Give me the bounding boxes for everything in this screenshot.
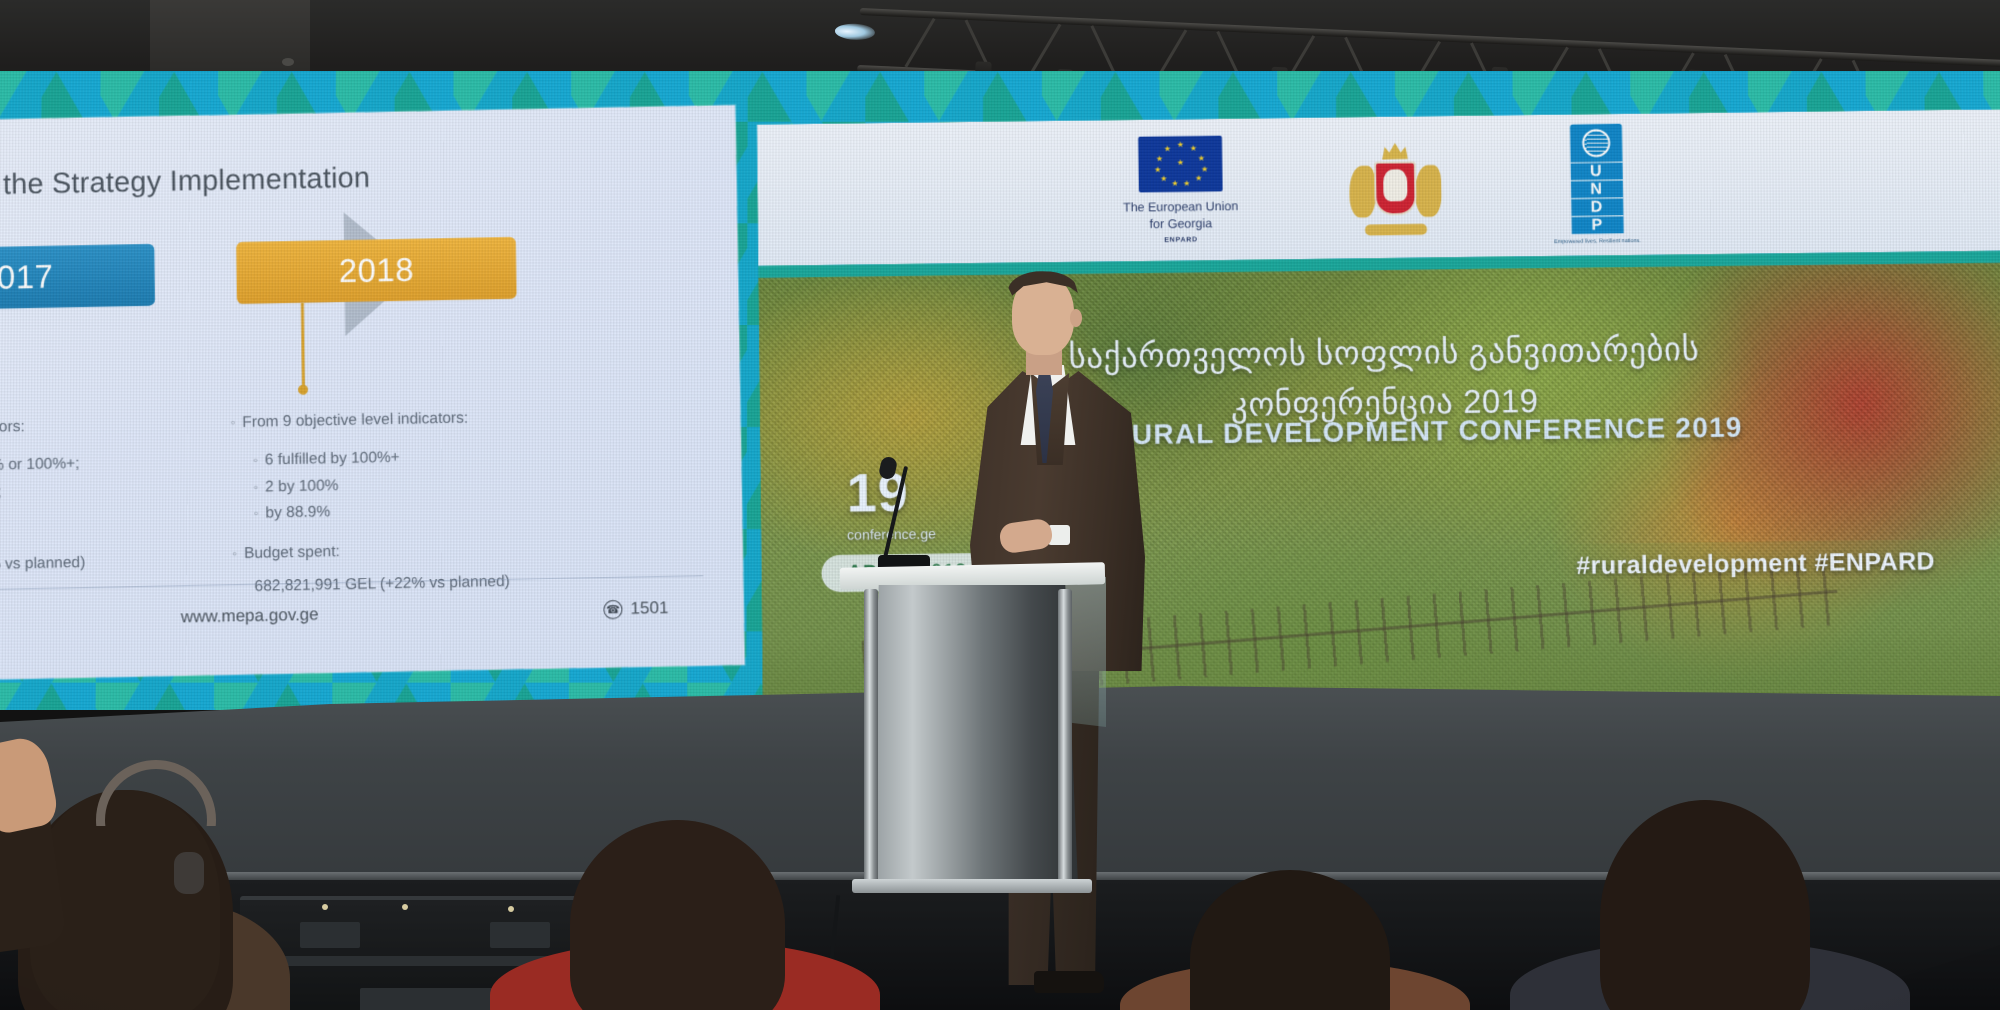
left-column-2017: r level indicators: d by 100% or 100%+; … (0, 410, 228, 580)
eu-flag-icon: ★ ★ ★ ★ ★ ★ ★ ★ ★ ★ ★ ★ (1138, 136, 1223, 193)
column-items: d by 100% or 100%+; d partially; lled. (0, 449, 228, 534)
column-heading: r level indicators: (0, 410, 227, 443)
undp-logo: U N D P Empowered lives. Resilient natio… (1552, 123, 1641, 246)
column-heading: From 9 objective level indicators: (230, 404, 560, 437)
leader-dot-2018 (298, 385, 308, 395)
budget-heading: Budget spent: (232, 535, 563, 568)
undp-caption: Empowered lives. Resilient nations. (1554, 237, 1641, 246)
hashtags: #ruraldevelopment #ENPARD (1576, 547, 1935, 580)
year-tag-2017: 2017 (0, 244, 155, 311)
leader-line-2018 (301, 303, 305, 387)
budget-value-2017: EL (+38.3% vs planned) (0, 548, 228, 580)
ceiling-light-dot (282, 58, 294, 66)
eu-logo-enpard: ENPARD (1123, 236, 1238, 244)
eu-flag-logo: ★ ★ ★ ★ ★ ★ ★ ★ ★ ★ ★ ★ (1122, 136, 1239, 245)
column-items: 6 fulfilled by 100%+ 2 by 100% by 88.9% (253, 442, 562, 527)
left-presentation-slide: ults of the Strategy Implementation 2017… (0, 105, 745, 680)
desk-slot (300, 922, 360, 948)
right-column-2018: From 9 objective level indicators: 6 ful… (230, 404, 563, 601)
footer-phone: ☎ 1501 (603, 598, 668, 619)
desk-slot (490, 922, 550, 948)
desk-indicator-light (402, 904, 408, 910)
speaker-ear (1070, 309, 1082, 327)
audience-raised-hand (0, 734, 61, 837)
lion-supporter-left-icon (1349, 166, 1376, 218)
undp-letters: U N D P (1570, 161, 1623, 233)
motto-ribbon-icon (1365, 224, 1427, 236)
eu-logo-line1: The European Union (1123, 198, 1238, 216)
undp-letter-u: U (1570, 162, 1622, 180)
slide-logo-header: ★ ★ ★ ★ ★ ★ ★ ★ ★ ★ ★ ★ (757, 109, 2000, 266)
phone-number: 1501 (630, 598, 668, 619)
undp-globe-panel (1570, 124, 1623, 162)
slide-title: ults of the Strategy Implementation (0, 162, 370, 204)
audience-member-right (1600, 800, 1810, 1010)
eu-logo-line2: for Georgia (1123, 215, 1238, 233)
headphone-earcup-icon (174, 852, 204, 894)
lion-supporter-right-icon (1415, 165, 1442, 217)
undp-letter-d: D (1571, 197, 1623, 216)
georgia-coat-of-arms-logo (1347, 135, 1444, 240)
audience-foreground (0, 710, 2000, 1010)
year-tag-2018: 2018 (236, 237, 517, 304)
truss-brace (1030, 24, 1061, 74)
audience-member-center (1190, 870, 1390, 1010)
undp-letter-p: P (1571, 215, 1623, 234)
conference-stage-scene: ults of the Strategy Implementation 2017… (0, 0, 2000, 1010)
footer-website: www.mepa.gov.ge (181, 605, 319, 628)
globe-icon (1582, 129, 1610, 157)
desk-indicator-light (508, 906, 514, 912)
truss-brace (904, 18, 935, 68)
saint-george-rider-icon (1383, 169, 1407, 201)
crown-icon (1382, 141, 1408, 159)
undp-letter-n: N (1571, 179, 1623, 198)
desk-indicator-light (322, 904, 328, 910)
phone-icon: ☎ (603, 599, 622, 618)
audience-member-red-top (570, 820, 785, 1010)
